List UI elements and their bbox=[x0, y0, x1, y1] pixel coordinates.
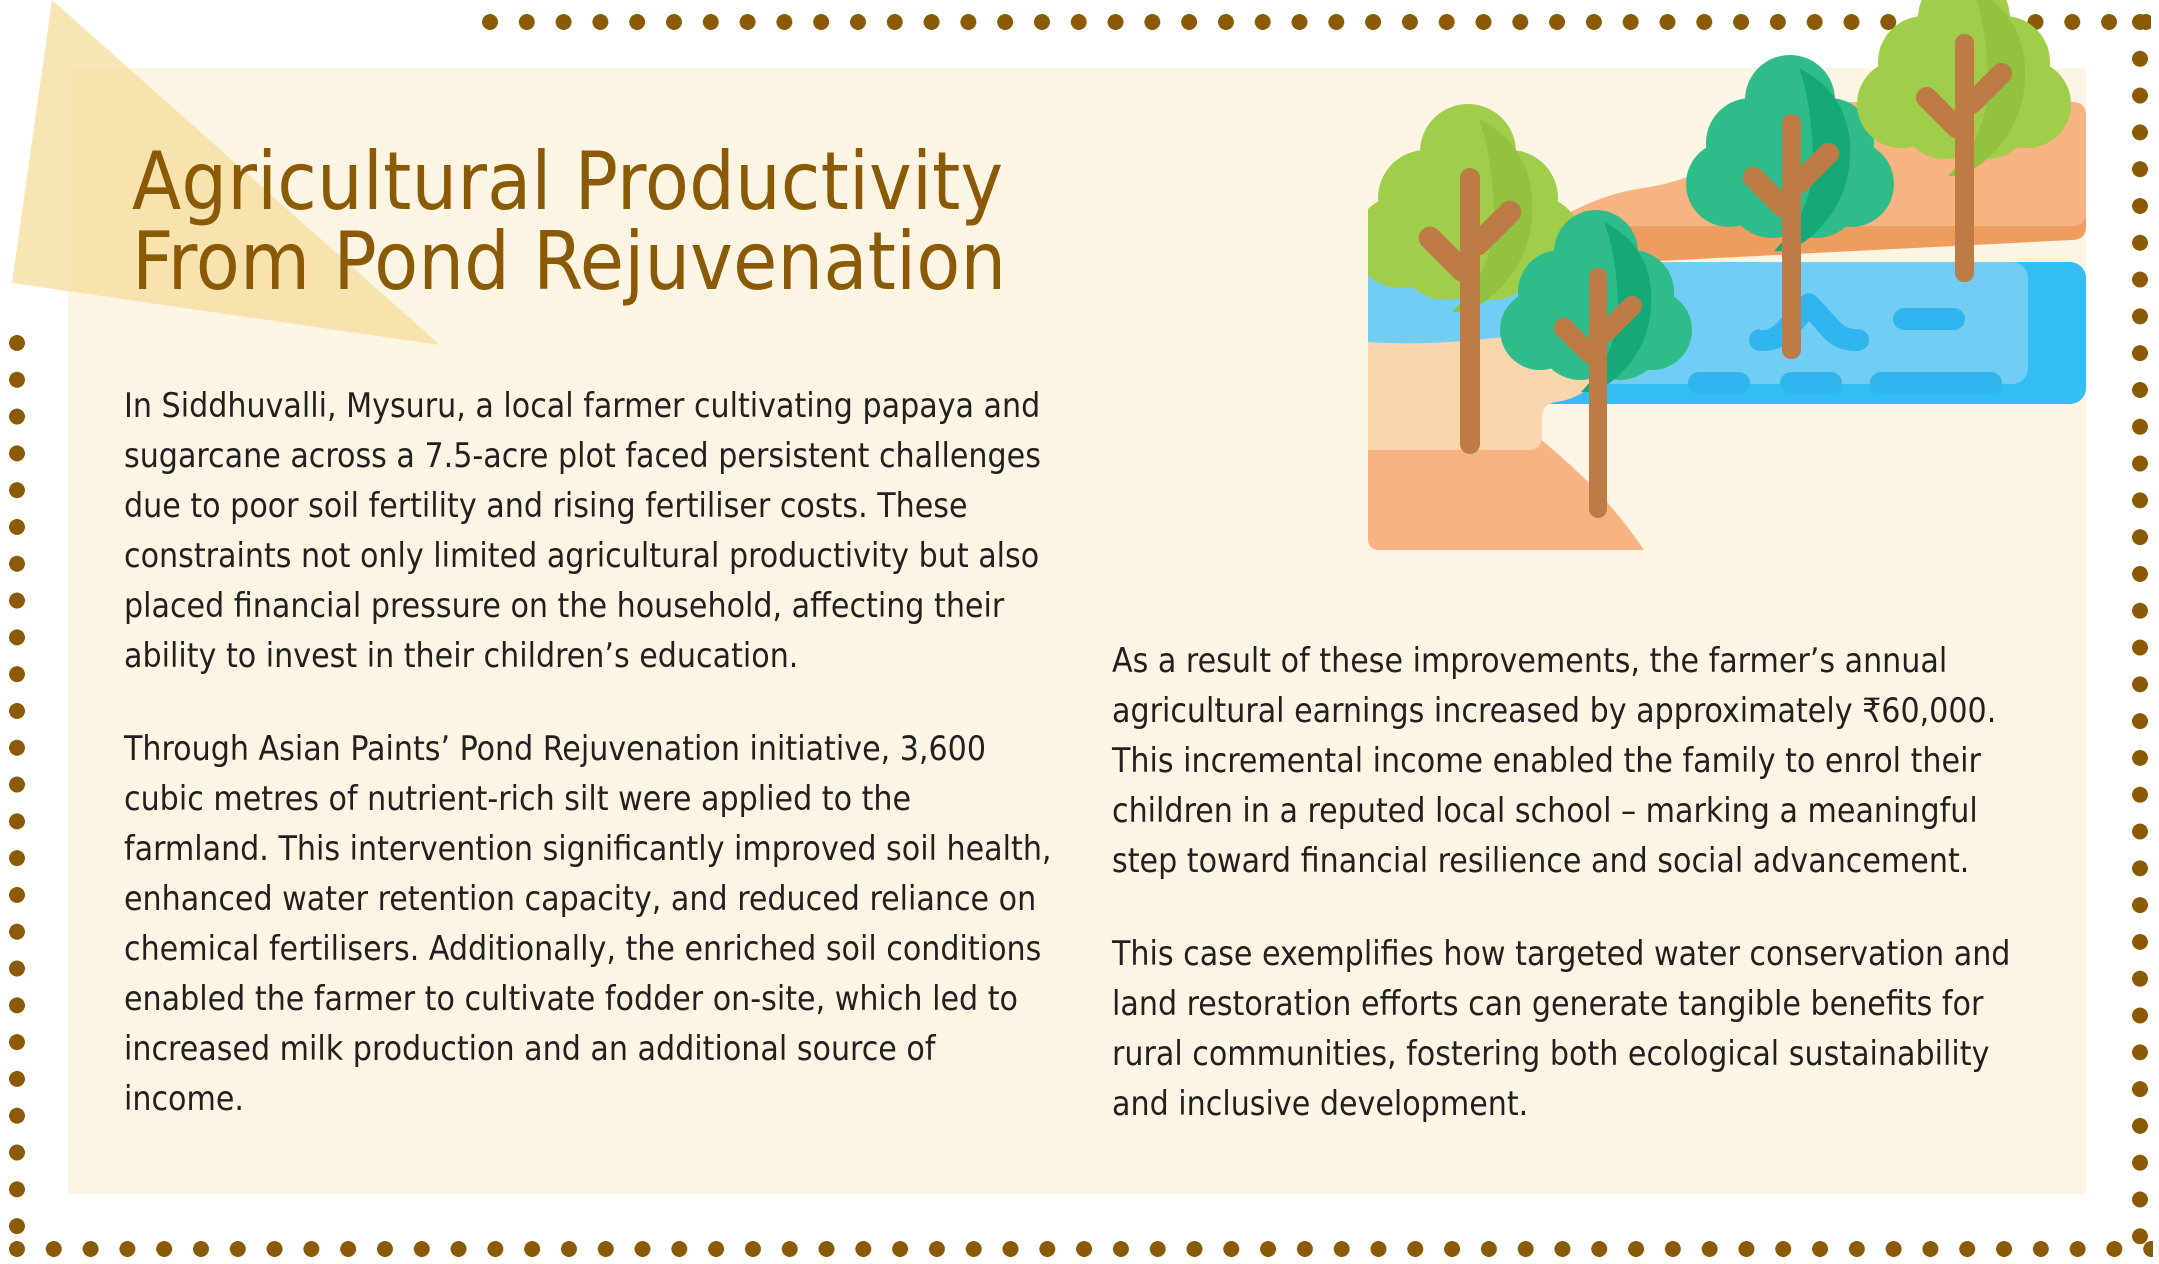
dotted-border-bottom bbox=[8, 1240, 2153, 1258]
infographic-poster: Agricultural Productivity From Pond Reju… bbox=[0, 0, 2159, 1264]
page-title: Agricultural Productivity From Pond Reju… bbox=[132, 142, 1282, 302]
paragraph: In Siddhuvalli, Mysuru, a local farmer c… bbox=[124, 381, 1059, 681]
body-right-column: As a result of these improvements, the f… bbox=[1112, 636, 2052, 1129]
paragraph: This case exemplifies how targeted water… bbox=[1112, 929, 2052, 1129]
paragraph: As a result of these improvements, the f… bbox=[1112, 636, 2052, 886]
paragraph: Through Asian Paints’ Pond Rejuvenation … bbox=[124, 724, 1059, 1124]
pond-landscape-illustration bbox=[1368, 0, 2098, 560]
dotted-border-left bbox=[8, 334, 26, 1254]
body-left-column: In Siddhuvalli, Mysuru, a local farmer c… bbox=[124, 381, 1059, 1124]
dotted-border-right bbox=[2131, 13, 2149, 1258]
